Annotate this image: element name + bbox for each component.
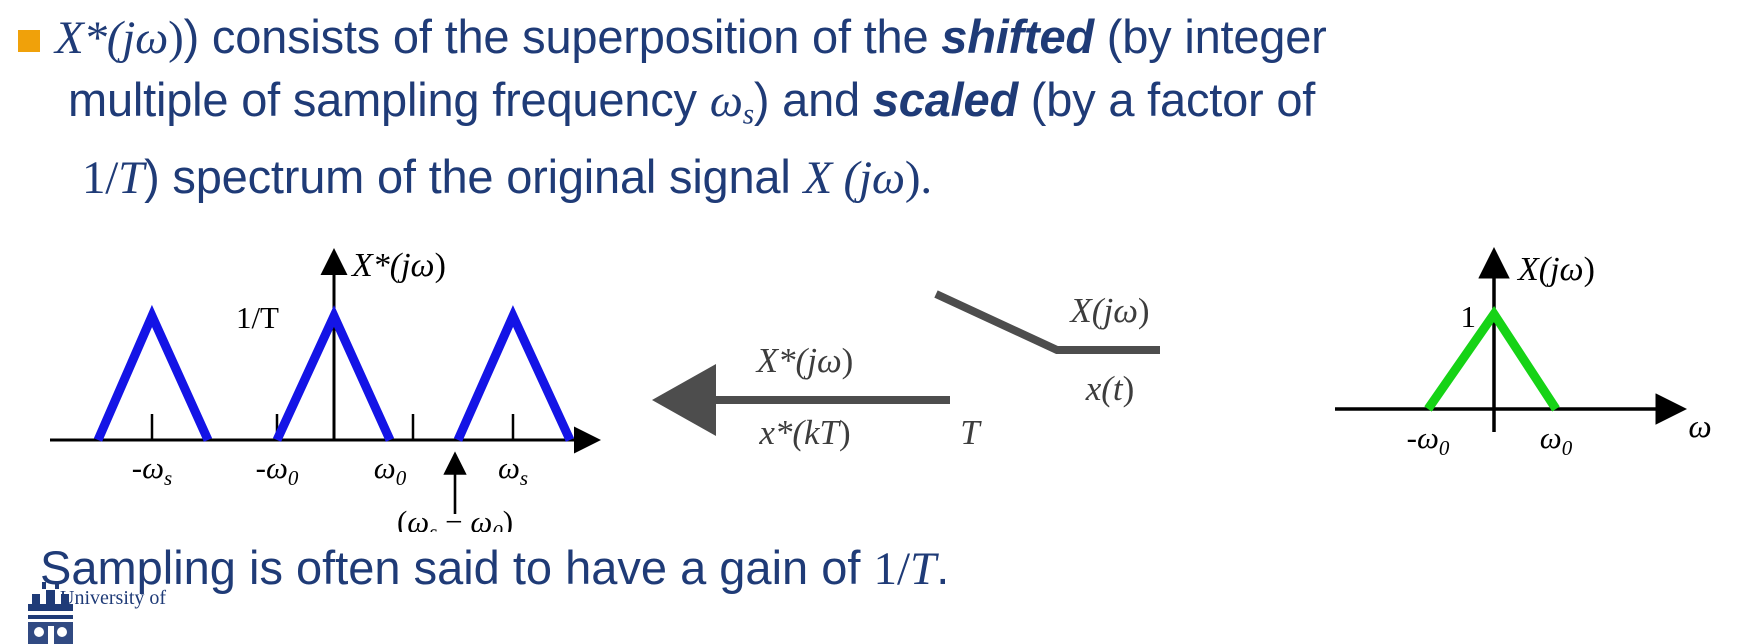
footer-sentence: Sampling is often said to have a gain of…: [40, 540, 949, 596]
omega-symbol: ω: [872, 152, 905, 204]
chart-title-original: X(jω): [1516, 251, 1595, 288]
flow-diagram: X*(jω) x*(kT) T X(jω) x(t): [660, 291, 1160, 452]
bullet-line-3-text-a: ) spectrum of the original signal: [144, 150, 803, 203]
footer-text-a: Sampling is often said to have a gain of: [40, 541, 873, 594]
x-tick-label-minus-omega-0: -ω0: [256, 450, 299, 490]
omega-subscript-s: s: [743, 99, 754, 131]
x-tick-label-omega-0: ω0: [374, 450, 407, 490]
flow-label-X-jw: X(jω): [1068, 291, 1149, 330]
x-axis-label-omega: ω: [1688, 409, 1711, 445]
peak-label-one: 1: [1461, 299, 1477, 334]
bullet-line-1: X*(jω)) consists of the superposition of…: [10, 6, 1750, 69]
callout-label-omega-s-minus-omega-0: (ωs − ω0): [397, 504, 513, 532]
flow-label-Xstar-jw: X*(jω): [755, 341, 854, 380]
figure-area: X*(jω) 1/T -ωs -ω0 ω0 ωs: [0, 232, 1750, 532]
omega-symbol: ω: [710, 75, 743, 127]
chart-title-sampled: X*(jω): [350, 247, 446, 284]
math-T: T: [118, 152, 144, 204]
bullet-line-1-text-b: (by integer: [1094, 10, 1327, 63]
bullet-line-1-text-a: ) consists of the superposition of the: [184, 10, 942, 63]
math-close-period: ).: [905, 152, 932, 204]
bullet-text-block: X*(jω)) consists of the superposition of…: [10, 6, 1750, 209]
bullet-line-2-emph-scaled: scaled: [873, 73, 1018, 126]
bullet-line-3: 1/T) spectrum of the original signal X (…: [10, 146, 1750, 209]
x-tick-label-omega-0: ω0: [1540, 420, 1573, 460]
bullet-line-2: multiple of sampling frequency ωs) and s…: [10, 69, 1750, 146]
bullet-marker-icon: [18, 30, 40, 52]
figure-svg: X*(jω) 1/T -ωs -ω0 ω0 ωs: [0, 232, 1750, 532]
bullet-line-2-text-b: ) and: [754, 73, 873, 126]
flow-label-x-t: x(t): [1085, 369, 1135, 408]
bullet-line-1-emph-shifted: shifted: [941, 10, 1094, 63]
footer-text-b: .: [936, 541, 949, 594]
footer-math-1-over-T: 1/T: [873, 543, 936, 595]
math-jw-open: (j: [832, 152, 872, 204]
math-one-over: 1/: [82, 152, 118, 204]
flow-label-xstar-kT: x*(kT): [758, 413, 850, 452]
bullet-line-2-text-c: (by a factor of: [1018, 73, 1315, 126]
chart-sampled-spectrum: X*(jω) 1/T -ωs -ω0 ω0 ωs: [50, 247, 595, 532]
chart-original-spectrum: X(jω) 1 -ω0 ω0 ω: [1335, 251, 1712, 460]
math-xstar-jw: X*(j: [55, 12, 135, 64]
spectrum-baseband: [1428, 314, 1556, 409]
sampler-period-label: T: [960, 413, 982, 452]
x-tick-label-minus-omega-s: -ωs: [132, 450, 172, 490]
peak-label-1-over-T: 1/T: [236, 300, 279, 335]
omega-symbol: ω: [135, 12, 168, 64]
x-tick-label-omega-s: ωs: [498, 450, 528, 490]
bullet-line-2-text-a: multiple of sampling frequency: [68, 73, 710, 126]
slide: X*(jω)) consists of the superposition of…: [0, 0, 1750, 644]
math-X: X: [803, 152, 832, 204]
x-tick-label-minus-omega-0: -ω0: [1407, 420, 1450, 460]
paren-close: ): [168, 12, 183, 64]
bullet-lines: X*(jω)) consists of the superposition of…: [10, 6, 1750, 209]
